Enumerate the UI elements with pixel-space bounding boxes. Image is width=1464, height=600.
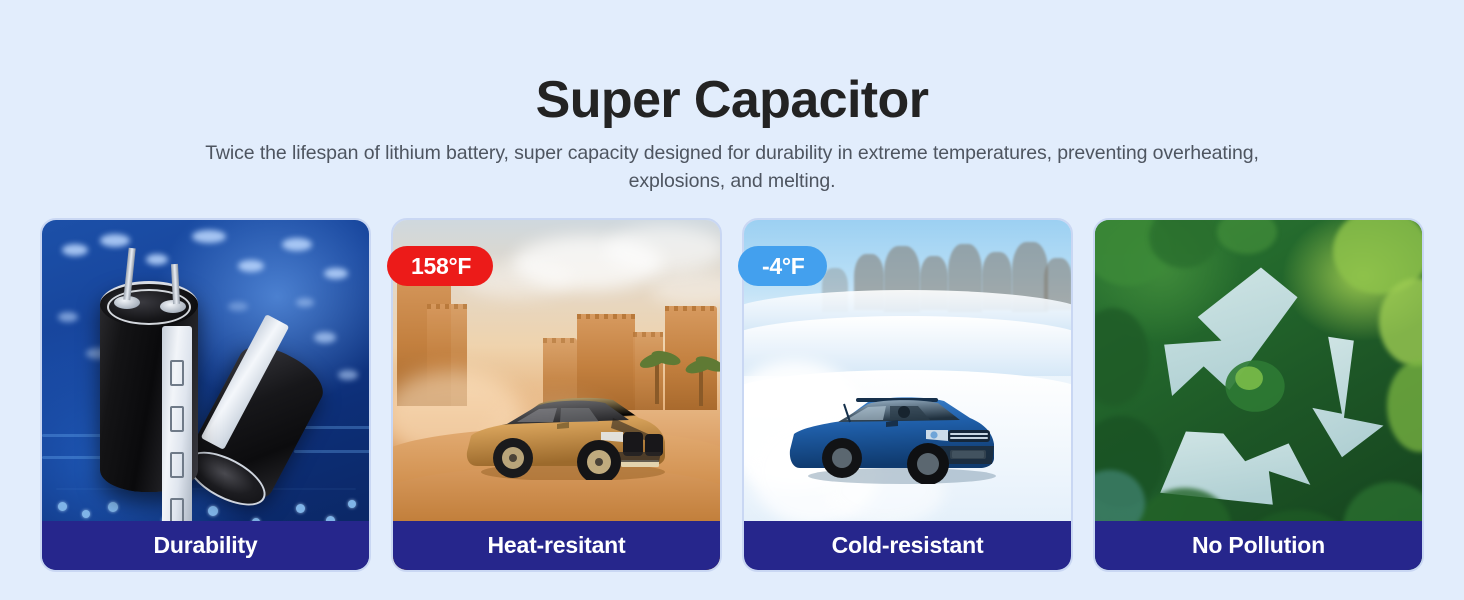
feature-card-durability[interactable]: Durability [40,218,371,572]
card-label-durability: Durability [42,521,369,570]
feature-card-heat-resistant[interactable]: 158°F Heat-resitant [391,218,722,572]
card-label-heat-resistant: Heat-resitant [393,521,720,570]
feature-card-no-pollution[interactable]: No Pollution [1093,218,1424,572]
gold-suv-illustration [461,388,669,480]
capacitors-on-circuit-board-photo [42,220,369,570]
card-label-cold-resistant: Cold-resistant [744,521,1071,570]
feature-card-cold-resistant[interactable]: -4°F Cold-resistant [742,218,1073,572]
card-image-clip [1095,220,1422,570]
card-image-clip [42,220,369,570]
forest-recycle-symbol-photo [1095,220,1422,570]
banner-header: Super Capacitor Twice the lifespan of li… [0,0,1464,195]
temperature-badge-hot: 158°F [387,246,493,286]
feature-card-row: Durability [40,218,1424,574]
page-title: Super Capacitor [0,74,1464,126]
super-capacitor-banner: Super Capacitor Twice the lifespan of li… [0,0,1464,600]
temperature-badge-cold: -4°F [738,246,827,286]
capacitor-primary [100,282,198,492]
page-subtitle: Twice the lifespan of lithium battery, s… [182,140,1282,195]
card-label-no-pollution: No Pollution [1095,521,1422,570]
blue-suv-illustration [782,388,998,484]
